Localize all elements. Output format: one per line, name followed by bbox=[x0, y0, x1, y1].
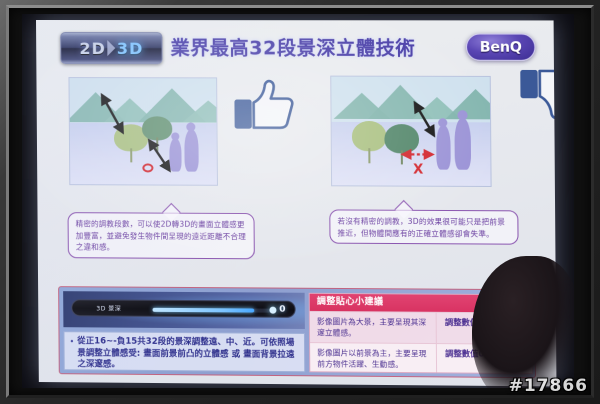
tip-table-header: 調整貼心小建議 bbox=[310, 294, 532, 313]
illustration-good-example bbox=[68, 77, 218, 186]
bullet-text: 從正16~-負15共32段的景深調整遠、中、近。可依照場景調整立體感受: 畫面前… bbox=[77, 335, 300, 368]
arrow-right-icon bbox=[107, 40, 115, 56]
illustration-bad-example: X bbox=[330, 76, 491, 187]
projection-screen: 2D 3D 業界最高32段景深立體技術 BenQ bbox=[22, 14, 574, 388]
tree-shape bbox=[352, 121, 387, 163]
osd-slider-track[interactable] bbox=[153, 308, 274, 313]
tree-crown bbox=[352, 121, 387, 151]
callout-good-example: 精密的調教段數，可以使2D轉3D的畫面立體感更加豐富，並避免發生物件間呈現的遠近… bbox=[68, 212, 255, 259]
tip-row-description: 影像圖片以前景為主，主要呈現前方物件活躍、生動感。 bbox=[310, 343, 436, 374]
table-row: 影像圖片以前景為主，主要呈現前方物件活躍、生動感。 調整數值0~-15 bbox=[310, 342, 532, 374]
page-title: 業界最高32段景深立體技術 bbox=[170, 34, 464, 63]
osd-screenshot: 3D 景深 0 bbox=[63, 291, 305, 329]
photo-frame: 2D 3D 業界最高32段景深立體技術 BenQ bbox=[0, 0, 600, 404]
logo-2d-text: 2D bbox=[79, 39, 106, 58]
depth-arrow-far bbox=[100, 94, 126, 134]
bullet-marker: • bbox=[70, 336, 75, 366]
osd-depth-slider[interactable]: 3D 景深 0 bbox=[71, 299, 296, 318]
person-head bbox=[186, 122, 195, 131]
mountain-shape bbox=[445, 89, 492, 119]
osd-slider-label: 3D 景深 bbox=[96, 303, 121, 312]
osd-slider-knob[interactable] bbox=[269, 307, 276, 314]
thumbs-down-icon bbox=[519, 65, 556, 124]
wrong-mark-x: X bbox=[413, 163, 423, 176]
benq-logo: BenQ bbox=[466, 33, 536, 60]
tip-row-value: 調整數值1~16 bbox=[436, 313, 532, 344]
depth-arrow-compressed bbox=[401, 148, 436, 160]
bottom-band: 3D 景深 0 • 從正16~-負15共32段的景深調整遠、中、近。可依照場景調… bbox=[58, 286, 536, 378]
person-silhouette-adult bbox=[454, 118, 471, 170]
callout-bad-text: 若沒有精密的調教，3D的效果很可能只是把前景推近，但物體間應有的正確立體感卻會失… bbox=[337, 217, 505, 238]
tip-row-description: 影像圖片為大景，主要呈現其深邃立體感。 bbox=[310, 312, 436, 343]
thumbs-up-icon bbox=[233, 78, 296, 136]
correct-mark-o bbox=[142, 163, 153, 172]
person-silhouette-adult bbox=[184, 129, 198, 171]
person-silhouette-child bbox=[436, 125, 451, 169]
table-row: 影像圖片為大景，主要呈現其深邃立體感。 調整數值1~16 bbox=[310, 311, 532, 344]
mountain-shape bbox=[182, 100, 218, 122]
person-head bbox=[171, 132, 179, 140]
tree-trunk bbox=[368, 148, 370, 163]
osd-slider-fill bbox=[153, 308, 255, 313]
osd-slider-value: 0 bbox=[279, 305, 285, 315]
logo-3d-text: 3D bbox=[117, 39, 144, 58]
person-head bbox=[438, 118, 447, 127]
callout-tail bbox=[162, 203, 180, 221]
tree-trunk bbox=[130, 148, 132, 162]
depth-arrow-far bbox=[413, 103, 438, 137]
callout-bad-example: 若沒有精密的調教，3D的效果很可能只是把前景推近，但物體間應有的正確立體感卻會失… bbox=[329, 209, 518, 244]
benq-logo-text: BenQ bbox=[480, 39, 522, 55]
tip-row-value: 調整數值0~-15 bbox=[436, 344, 532, 374]
callout-good-text: 精密的調教段數，可以使2D轉3D的畫面立體感更加豐富，並避免發生物件間呈現的遠近… bbox=[76, 219, 246, 251]
tip-table: 調整貼心小建議 影像圖片為大景，主要呈現其深邃立體感。 調整數值1~16 影像圖… bbox=[309, 293, 533, 374]
callout-tail bbox=[394, 200, 413, 219]
2d-to-3d-logo: 2D 3D bbox=[60, 32, 163, 64]
watermark: #17866 bbox=[509, 376, 588, 396]
presentation-slide: 2D 3D 業界最高32段景深立體技術 BenQ bbox=[36, 20, 556, 386]
bullet-description-box: • 從正16~-負15共32段的景深調整遠、中、近。可依照場景調整立體感受: 畫… bbox=[63, 331, 305, 372]
slide-header: 2D 3D 業界最高32段景深立體技術 BenQ bbox=[46, 26, 544, 69]
person-head bbox=[457, 110, 467, 120]
osd-and-bullet-column: 3D 景深 0 • 從正16~-負15共32段的景深調整遠、中、近。可依照場景調… bbox=[63, 291, 305, 372]
